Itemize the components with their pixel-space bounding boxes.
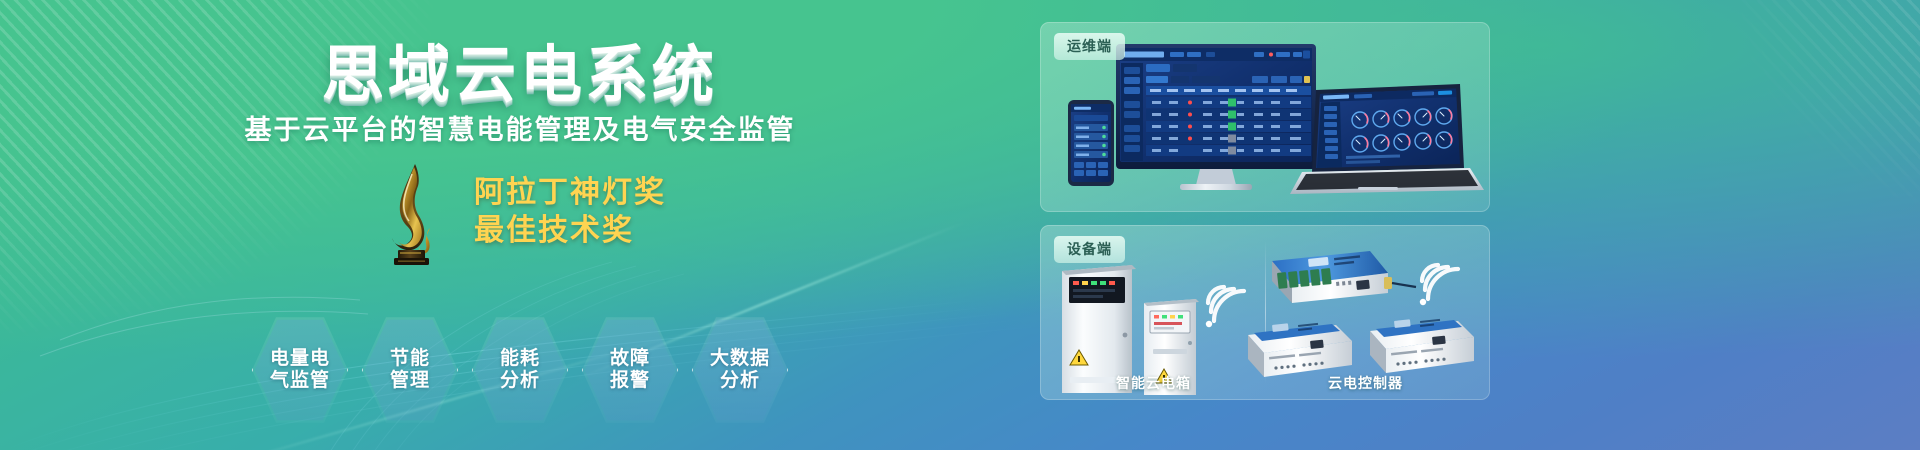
feature-hex-1[interactable]: 节能 管理 xyxy=(362,315,458,425)
feature-hexagon-row: 电量电 气监管 节能 管理 能耗 分析 故障 报警 大数据 分析 xyxy=(0,315,1040,425)
banner-right-column: 运维端 xyxy=(1040,22,1500,400)
award-line-2: 最佳技术奖 xyxy=(474,212,666,250)
wifi-signal-icon xyxy=(1208,287,1244,321)
din-rail-controller-icon xyxy=(1248,251,1474,377)
device-caption-1: 云电控制器 xyxy=(1328,373,1403,393)
award-block: 阿拉丁神灯奖 最佳技术奖 xyxy=(0,158,1040,266)
award-text: 阿拉丁神灯奖 最佳技术奖 xyxy=(474,174,666,251)
promo-banner: 思域云电系统 基于云平台的智慧电能管理及电气安全监管 xyxy=(0,0,1920,450)
laptop-icon xyxy=(1290,84,1484,194)
award-line-1: 阿拉丁神灯奖 xyxy=(474,174,666,212)
feature-hex-0[interactable]: 电量电 气监管 xyxy=(252,315,348,425)
device-caption-0: 智能云电箱 xyxy=(1116,373,1191,393)
wifi-signal-icon xyxy=(1422,265,1458,299)
feature-hex-label: 节能 管理 xyxy=(390,348,430,393)
feature-hex-label: 大数据 分析 xyxy=(710,348,770,393)
desktop-monitor-icon xyxy=(1116,44,1316,190)
smartphone-icon xyxy=(1068,100,1114,186)
device-terminal-tag: 设备端 xyxy=(1054,236,1125,263)
feature-hex-3[interactable]: 故障 报警 xyxy=(582,315,678,425)
feature-hex-label: 能耗 分析 xyxy=(500,348,540,393)
feature-hex-4[interactable]: 大数据 分析 xyxy=(692,315,788,425)
ops-terminal-tag: 运维端 xyxy=(1054,33,1125,60)
diagonal-stripe-texture-right xyxy=(1500,0,1920,350)
feature-hex-label: 故障 报警 xyxy=(610,348,650,393)
ops-terminal-panel: 运维端 xyxy=(1040,22,1490,212)
page-subtitle: 基于云平台的智慧电能管理及电气安全监管 xyxy=(0,108,1040,147)
page-title: 思域云电系统 xyxy=(0,24,1040,114)
banner-left-column: 思域云电系统 基于云平台的智慧电能管理及电气安全监管 xyxy=(0,0,1040,450)
device-terminal-panel: 设备端 xyxy=(1040,225,1490,400)
trophy-flame-icon xyxy=(374,158,448,266)
feature-hex-2[interactable]: 能耗 分析 xyxy=(472,315,568,425)
feature-hex-label: 电量电 气监管 xyxy=(270,348,330,393)
